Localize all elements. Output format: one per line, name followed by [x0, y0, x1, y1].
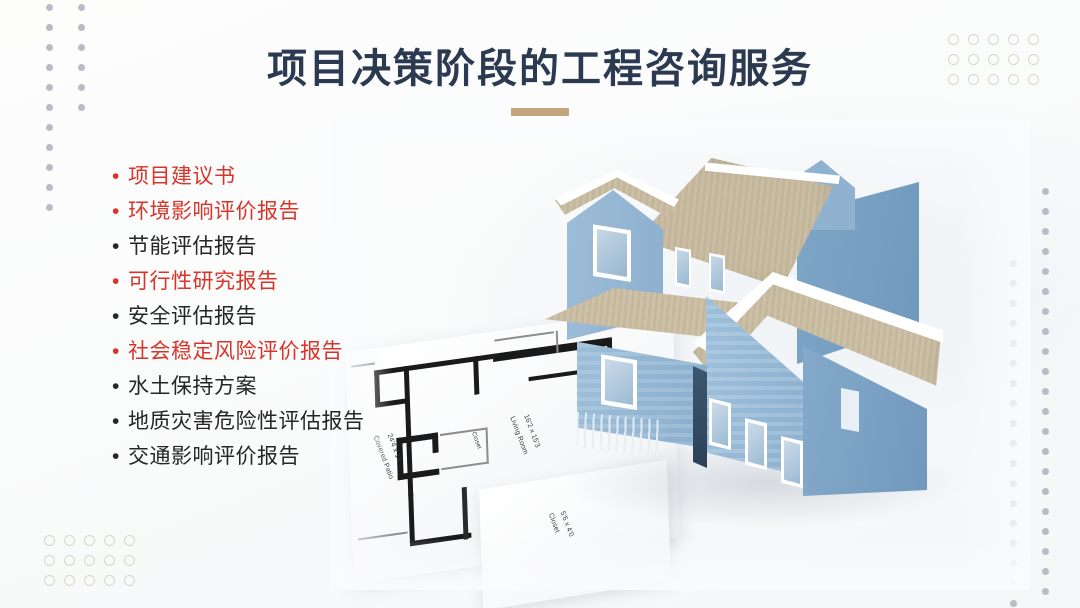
ornament-dot: [1042, 568, 1049, 575]
bullet-marker-icon: •: [112, 164, 128, 190]
ornament-circle: [44, 575, 55, 586]
list-item-label: 交通影响评价报告: [128, 444, 300, 470]
bullet-marker-icon: •: [112, 304, 128, 330]
ornament-dot: [46, 184, 53, 191]
bullet-marker-icon: •: [112, 339, 128, 365]
ornament-dot: [1042, 188, 1049, 195]
ornament-circle: [84, 535, 95, 546]
ornament-circle: [44, 555, 55, 566]
ornament-dot: [46, 4, 53, 11]
list-item-label: 节能评估报告: [128, 234, 257, 260]
list-item: •节能评估报告: [112, 234, 512, 260]
bullet-marker-icon: •: [112, 199, 128, 225]
ornament-dot: [1042, 488, 1049, 495]
ornament-circle: [104, 575, 115, 586]
page-title: 项目决策阶段的工程咨询服务: [0, 44, 1080, 94]
house-window-front-c-glass: [784, 440, 800, 484]
ornament-dot: [1042, 368, 1049, 375]
list-item: •交通影响评价报告: [112, 444, 512, 470]
ornament-dot: [1042, 388, 1049, 395]
list-item: •社会稳定风险评价报告: [112, 339, 512, 365]
house-wall-recess: [693, 366, 707, 468]
list-item-label: 项目建议书: [128, 164, 236, 190]
ornament-dot: [46, 204, 53, 211]
list-item: •地质灾害危险性评估报告: [112, 409, 512, 435]
title-block: 项目决策阶段的工程咨询服务: [0, 44, 1080, 116]
ornament-dot: [1042, 328, 1049, 335]
list-item-label: 水土保持方案: [128, 374, 257, 400]
ornament-circle: [64, 575, 75, 586]
ornament-dot: [1042, 348, 1049, 355]
list-item-label: 环境影响评价报告: [128, 199, 300, 225]
list-item-label: 安全评估报告: [128, 304, 257, 330]
ornament-dot: [1042, 428, 1049, 435]
house-window-upper-mid-a-glass: [677, 249, 689, 285]
house-window-front-a-glass: [712, 402, 728, 446]
ornament-dot: [1042, 248, 1049, 255]
ornament-dot: [78, 24, 85, 31]
house-window-front-b-glass: [748, 422, 764, 466]
list-item: •可行性研究报告: [112, 269, 512, 295]
ornament-circle: [124, 555, 135, 566]
list-item: •环境影响评价报告: [112, 199, 512, 225]
ornament-circle: [124, 535, 135, 546]
ornament-circle: [44, 535, 55, 546]
ornament-dot: [46, 24, 53, 31]
house-window-rear-a: [841, 388, 859, 432]
house-window-porch-glass: [605, 357, 633, 405]
ornament-dot: [1042, 308, 1049, 315]
ornament-dot: [1042, 408, 1049, 415]
ornament-dot: [1010, 600, 1017, 607]
ornament-dot: [1042, 528, 1049, 535]
ornament-dot: [1042, 288, 1049, 295]
bullet-marker-icon: •: [112, 374, 128, 400]
ornament-dot: [1042, 268, 1049, 275]
bullet-marker-icon: •: [112, 409, 128, 435]
ornament-circle: [84, 575, 95, 586]
ornament-circle: [64, 535, 75, 546]
ornament-dot: [1042, 548, 1049, 555]
house-window-upper-left-glass: [597, 227, 627, 277]
list-item-label: 可行性研究报告: [128, 269, 279, 295]
ornament-dots-bottom-right-b: [1042, 188, 1049, 608]
ornament-circle: [64, 555, 75, 566]
slide-canvas: Covered Patio 24'4 x 14 Living Room 16'2…: [0, 0, 1080, 608]
ornament-circle: [84, 555, 95, 566]
ornament-dot: [1042, 508, 1049, 515]
ornament-circle: [104, 555, 115, 566]
list-item-label: 社会稳定风险评价报告: [128, 339, 343, 365]
ornament-circle: [104, 535, 115, 546]
ornament-dot: [1042, 448, 1049, 455]
ornament-dot: [1042, 588, 1049, 595]
ornament-dot: [1042, 228, 1049, 235]
bullet-marker-icon: •: [112, 444, 128, 470]
house-3d-model: [545, 138, 1015, 538]
bullet-marker-icon: •: [112, 234, 128, 260]
list-item: •安全评估报告: [112, 304, 512, 330]
ornament-dot: [46, 164, 53, 171]
ornament-dot: [46, 124, 53, 131]
list-item-label: 地质灾害危险性评估报告: [128, 409, 365, 435]
ornament-dot: [1042, 208, 1049, 215]
list-item: •项目建议书: [112, 164, 512, 190]
title-underline-accent: [511, 108, 569, 116]
ornament-dot: [78, 4, 85, 11]
ornament-circles-bottom-left: [44, 535, 144, 595]
list-item: •水土保持方案: [112, 374, 512, 400]
ornament-circle: [124, 575, 135, 586]
ornament-dot: [1042, 468, 1049, 475]
bullet-marker-icon: •: [112, 269, 128, 295]
ornament-dot: [46, 144, 53, 151]
service-list: •项目建议书•环境影响评价报告•节能评估报告•可行性研究报告•安全评估报告•社会…: [112, 164, 512, 479]
house-window-upper-mid-b-glass: [711, 255, 723, 291]
